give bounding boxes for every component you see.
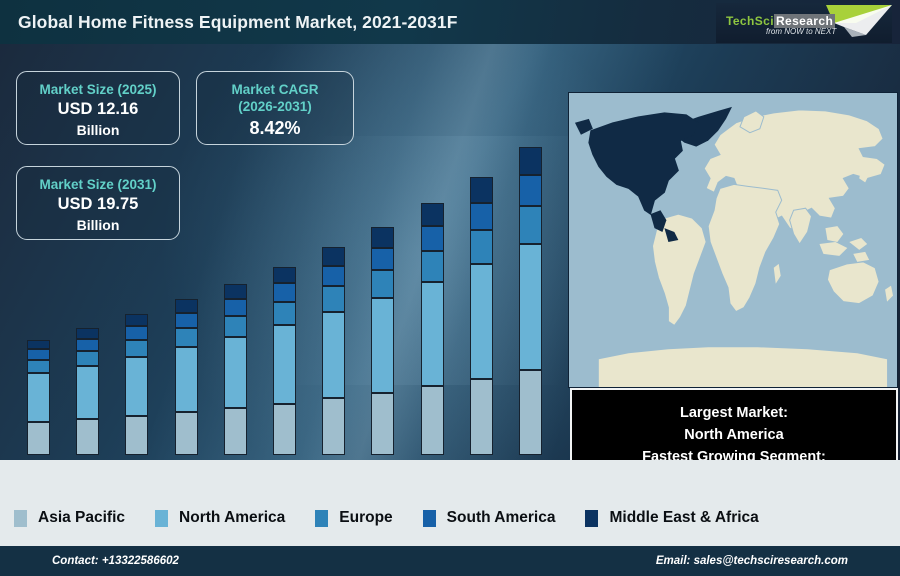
- bar-2025[interactable]: [224, 284, 247, 455]
- bar-segment-asia-pacific[interactable]: [27, 422, 50, 455]
- legend-swatch-icon: [585, 510, 598, 527]
- legend-swatch-icon: [14, 510, 27, 527]
- bar-segment-middle-east-africa[interactable]: [470, 177, 493, 202]
- bar-segment-asia-pacific[interactable]: [421, 386, 444, 455]
- bar-2027F[interactable]: [322, 247, 345, 455]
- header-bar: Global Home Fitness Equipment Market, 20…: [0, 0, 900, 44]
- bar-segment-middle-east-africa[interactable]: [519, 147, 542, 175]
- footer-contact: Contact: +13322586602: [52, 555, 179, 567]
- callout-line-2: North America: [684, 424, 783, 446]
- bar-segment-south-america[interactable]: [371, 248, 394, 271]
- bar-segment-north-america[interactable]: [322, 312, 345, 398]
- bar-segment-south-america[interactable]: [125, 326, 148, 340]
- bar-segment-europe[interactable]: [76, 351, 99, 366]
- bar-segment-middle-east-africa[interactable]: [322, 247, 345, 266]
- legend-swatch-icon: [423, 510, 436, 527]
- bar-segment-asia-pacific[interactable]: [76, 419, 99, 455]
- bar-segment-south-america[interactable]: [519, 175, 542, 205]
- bar-segment-middle-east-africa[interactable]: [421, 203, 444, 226]
- logo-text-techsci: TechSci: [726, 14, 774, 28]
- legend-items: Asia PacificNorth AmericaEuropeSouth Ame…: [14, 509, 789, 527]
- bar-segment-south-america[interactable]: [421, 226, 444, 251]
- bar-segment-middle-east-africa[interactable]: [224, 284, 247, 299]
- bar-segment-south-america[interactable]: [470, 203, 493, 230]
- bar-segment-europe[interactable]: [322, 286, 345, 312]
- bar-segment-north-america[interactable]: [273, 325, 296, 403]
- bar-segment-middle-east-africa[interactable]: [76, 328, 99, 339]
- bar-segment-south-america[interactable]: [27, 349, 50, 360]
- bar-segment-europe[interactable]: [125, 340, 148, 357]
- bar-segment-north-america[interactable]: [125, 357, 148, 416]
- bar-segment-middle-east-africa[interactable]: [125, 314, 148, 326]
- legend-item-europe[interactable]: Europe: [315, 509, 392, 527]
- bar-2022[interactable]: [76, 328, 99, 455]
- bar-2021[interactable]: [27, 340, 50, 455]
- bar-2029F[interactable]: [421, 203, 444, 455]
- infographic-page: Global Home Fitness Equipment Market, 20…: [0, 0, 900, 576]
- bar-segment-north-america[interactable]: [76, 366, 99, 420]
- bar-segment-north-america[interactable]: [371, 298, 394, 393]
- bar-segment-asia-pacific[interactable]: [125, 416, 148, 455]
- bar-segment-south-america[interactable]: [273, 283, 296, 302]
- world-map: [568, 92, 898, 388]
- bar-segment-asia-pacific[interactable]: [224, 408, 247, 455]
- bar-segment-europe[interactable]: [421, 251, 444, 282]
- legend-swatch-icon: [315, 510, 328, 527]
- bar-segment-north-america[interactable]: [224, 337, 247, 408]
- chart-panel: Market Size (2025) USD 12.16 Billion Mar…: [0, 44, 900, 460]
- logo-text-research: Research: [774, 14, 835, 28]
- bar-segment-south-america[interactable]: [322, 266, 345, 287]
- world-map-icon: [569, 93, 897, 387]
- bar-segment-europe[interactable]: [175, 328, 198, 347]
- footer-bar: Contact: +13322586602 Email: sales@techs…: [0, 546, 900, 576]
- bar-2024[interactable]: [175, 299, 198, 455]
- bar-segment-south-america[interactable]: [175, 313, 198, 329]
- bar-segment-asia-pacific[interactable]: [175, 412, 198, 455]
- legend-item-middle-east-africa[interactable]: Middle East & Africa: [585, 509, 758, 527]
- bar-segment-north-america[interactable]: [421, 282, 444, 386]
- page-title: Global Home Fitness Equipment Market, 20…: [18, 12, 458, 33]
- callout-line-1: Largest Market:: [680, 402, 788, 424]
- logo-tagline: from NOW to NEXT: [766, 27, 836, 36]
- legend-label: Asia Pacific: [38, 509, 125, 527]
- bar-segment-europe[interactable]: [273, 302, 296, 325]
- bar-2030F[interactable]: [470, 177, 493, 455]
- chart-legend: Asia PacificNorth AmericaEuropeSouth Ame…: [0, 460, 900, 546]
- bar-2026E[interactable]: [273, 267, 296, 455]
- legend-label: Middle East & Africa: [609, 509, 758, 527]
- bar-2023[interactable]: [125, 314, 148, 455]
- bar-segment-asia-pacific[interactable]: [322, 398, 345, 455]
- bar-segment-north-america[interactable]: [519, 244, 542, 371]
- legend-swatch-icon: [155, 510, 168, 527]
- bar-segment-middle-east-africa[interactable]: [175, 299, 198, 313]
- bar-segment-north-america[interactable]: [470, 264, 493, 379]
- stacked-bar-chart: [0, 44, 570, 460]
- logo-wordmark: TechSciResearch: [726, 14, 835, 28]
- bar-segment-middle-east-africa[interactable]: [27, 340, 50, 349]
- bar-segment-asia-pacific[interactable]: [470, 379, 493, 455]
- legend-item-north-america[interactable]: North America: [155, 509, 285, 527]
- legend-item-south-america[interactable]: South America: [423, 509, 556, 527]
- bar-segment-asia-pacific[interactable]: [273, 404, 296, 455]
- bar-segment-south-america[interactable]: [224, 299, 247, 316]
- bar-2028F[interactable]: [371, 227, 394, 455]
- bar-segment-asia-pacific[interactable]: [371, 393, 394, 455]
- bar-segment-europe[interactable]: [470, 230, 493, 264]
- bar-2031F[interactable]: [519, 147, 542, 455]
- bar-segment-europe[interactable]: [519, 206, 542, 244]
- bar-segment-europe[interactable]: [224, 316, 247, 337]
- legend-label: South America: [447, 509, 556, 527]
- bar-segment-north-america[interactable]: [175, 347, 198, 412]
- bar-segment-middle-east-africa[interactable]: [273, 267, 296, 284]
- bar-segment-asia-pacific[interactable]: [519, 370, 542, 455]
- legend-item-asia-pacific[interactable]: Asia Pacific: [14, 509, 125, 527]
- techsci-research-logo: TechSciResearch from NOW to NEXT: [716, 3, 892, 43]
- footer-email: Email: sales@techsciresearch.com: [656, 555, 848, 567]
- bar-segment-europe[interactable]: [27, 360, 50, 373]
- bar-segment-middle-east-africa[interactable]: [371, 227, 394, 248]
- legend-label: Europe: [339, 509, 392, 527]
- bar-segment-europe[interactable]: [371, 270, 394, 298]
- bar-segment-south-america[interactable]: [76, 339, 99, 351]
- legend-label: North America: [179, 509, 285, 527]
- bar-segment-north-america[interactable]: [27, 373, 50, 421]
